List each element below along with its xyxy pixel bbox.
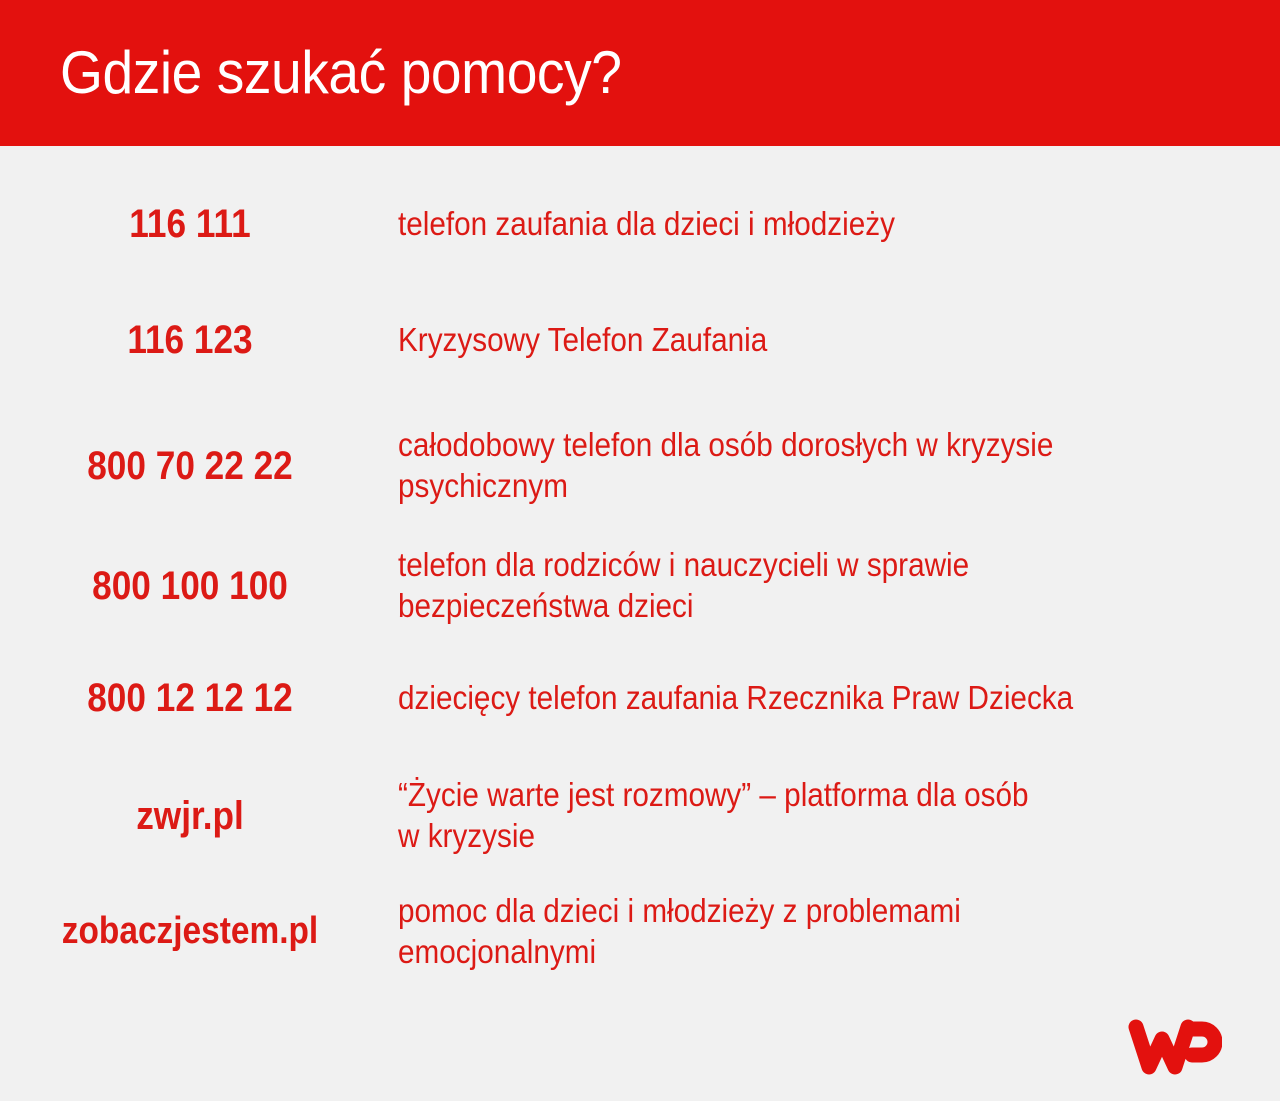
wp-logo-icon <box>1126 1017 1222 1079</box>
contact-number[interactable]: 800 100 100 <box>23 565 357 607</box>
help-row: 800 100 100 telefon dla rodziców i naucz… <box>0 534 1280 638</box>
help-row: 800 12 12 12 dziecięcy telefon zaufania … <box>0 662 1280 734</box>
help-row: 116 111 telefon zaufania dla dzieci i mł… <box>0 188 1280 260</box>
contact-description: “Życie warte jest rozmowy” – platforma d… <box>380 775 1190 857</box>
contact-description: całodobowy telefon dla osób dorosłych w … <box>380 425 1190 507</box>
description-line: dziecięcy telefon zaufania Rzecznika Pra… <box>398 678 1172 719</box>
description-line: “Życie warte jest rozmowy” – platforma d… <box>398 775 1172 816</box>
description-line: Kryzysowy Telefon Zaufania <box>398 320 1172 361</box>
description-line: psychicznym <box>398 466 1172 507</box>
description-line: w kryzysie <box>398 816 1172 857</box>
help-row: 800 70 22 22 całodobowy telefon dla osób… <box>0 414 1280 518</box>
wp-logo <box>1126 1017 1222 1079</box>
contact-number[interactable]: 116 123 <box>23 319 357 361</box>
header-band: Gdzie szukać pomocy? <box>0 0 1280 146</box>
help-row: zobaczjestem.pl pomoc dla dzieci i młodz… <box>0 880 1280 984</box>
page-title: Gdzie szukać pomocy? <box>60 43 621 103</box>
contact-description: telefon zaufania dla dzieci i młodzieży <box>380 204 1190 245</box>
description-line: telefon zaufania dla dzieci i młodzieży <box>398 204 1172 245</box>
contact-description: pomoc dla dzieci i młodzieży z problemam… <box>380 891 1190 973</box>
description-line: emocjonalnymi <box>398 932 1172 973</box>
contact-number[interactable]: 800 12 12 12 <box>23 677 357 719</box>
contact-description: Kryzysowy Telefon Zaufania <box>380 320 1190 361</box>
contact-number[interactable]: 116 111 <box>23 203 357 245</box>
contact-description: telefon dla rodziców i nauczycieli w spr… <box>380 545 1190 627</box>
description-line: całodobowy telefon dla osób dorosłych w … <box>398 425 1172 466</box>
contact-number[interactable]: 800 70 22 22 <box>23 445 357 487</box>
help-row: zwjr.pl “Życie warte jest rozmowy” – pla… <box>0 764 1280 868</box>
help-contacts-list: 116 111 telefon zaufania dla dzieci i mł… <box>0 146 1280 1001</box>
contact-website[interactable]: zwjr.pl <box>23 795 357 837</box>
description-line: pomoc dla dzieci i młodzieży z problemam… <box>398 891 1172 932</box>
contact-website[interactable]: zobaczjestem.pl <box>23 912 357 952</box>
help-row: 116 123 Kryzysowy Telefon Zaufania <box>0 304 1280 376</box>
description-line: telefon dla rodziców i nauczycieli w spr… <box>398 545 1172 586</box>
description-line: bezpieczeństwa dzieci <box>398 586 1172 627</box>
contact-description: dziecięcy telefon zaufania Rzecznika Pra… <box>380 678 1190 719</box>
